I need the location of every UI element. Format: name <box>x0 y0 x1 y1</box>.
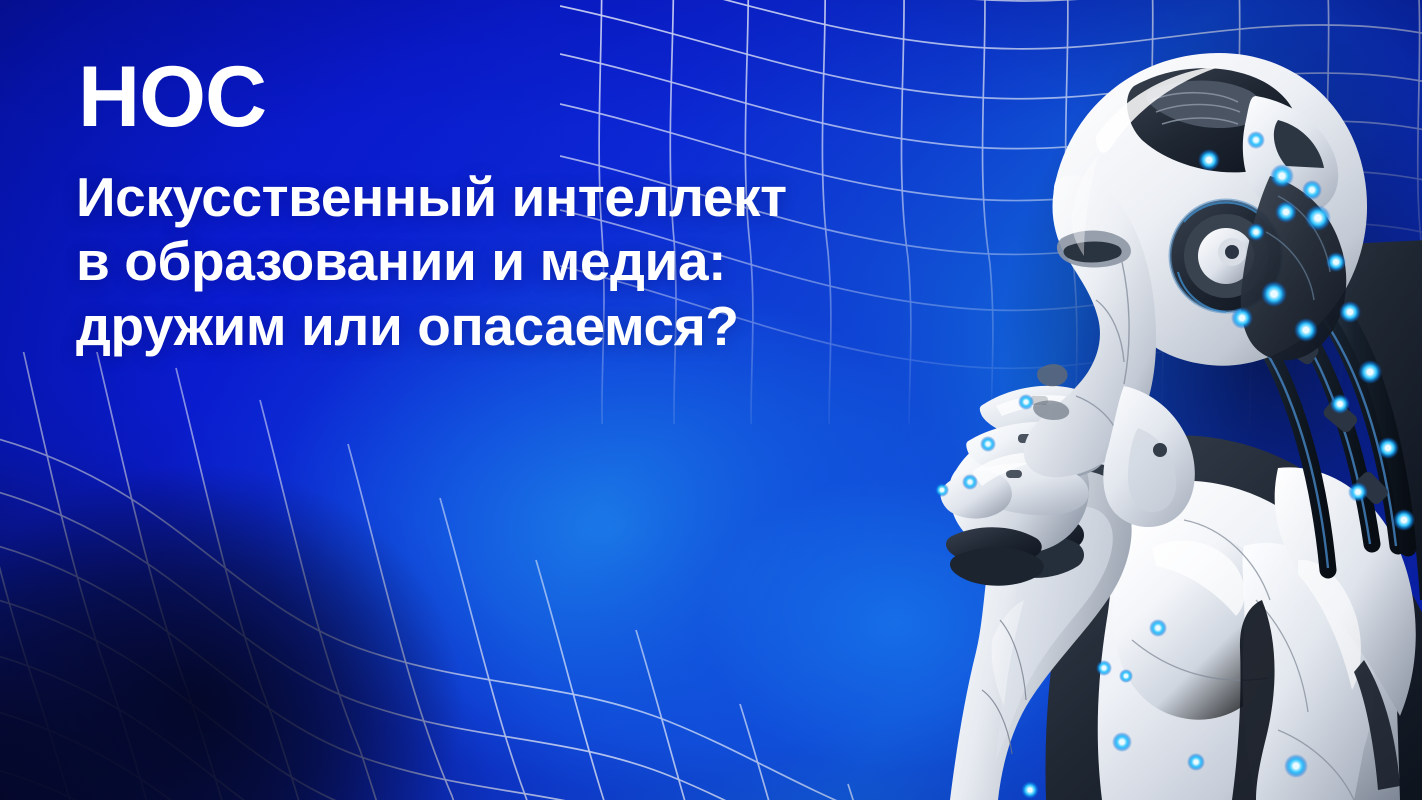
headline-line-3: дружим или опасаемся? <box>76 294 936 358</box>
text-content: НОС Искусственный интеллект в образовани… <box>76 58 936 358</box>
headline-line-1: Искусственный интеллект <box>76 165 936 229</box>
headline-line-2: в образовании и медиа: <box>76 229 936 293</box>
brand-logo[interactable]: НОС <box>78 58 936 137</box>
page-title: Искусственный интеллект в образовании и … <box>76 165 936 358</box>
banner-canvas: НОС Искусственный интеллект в образовани… <box>0 0 1422 800</box>
